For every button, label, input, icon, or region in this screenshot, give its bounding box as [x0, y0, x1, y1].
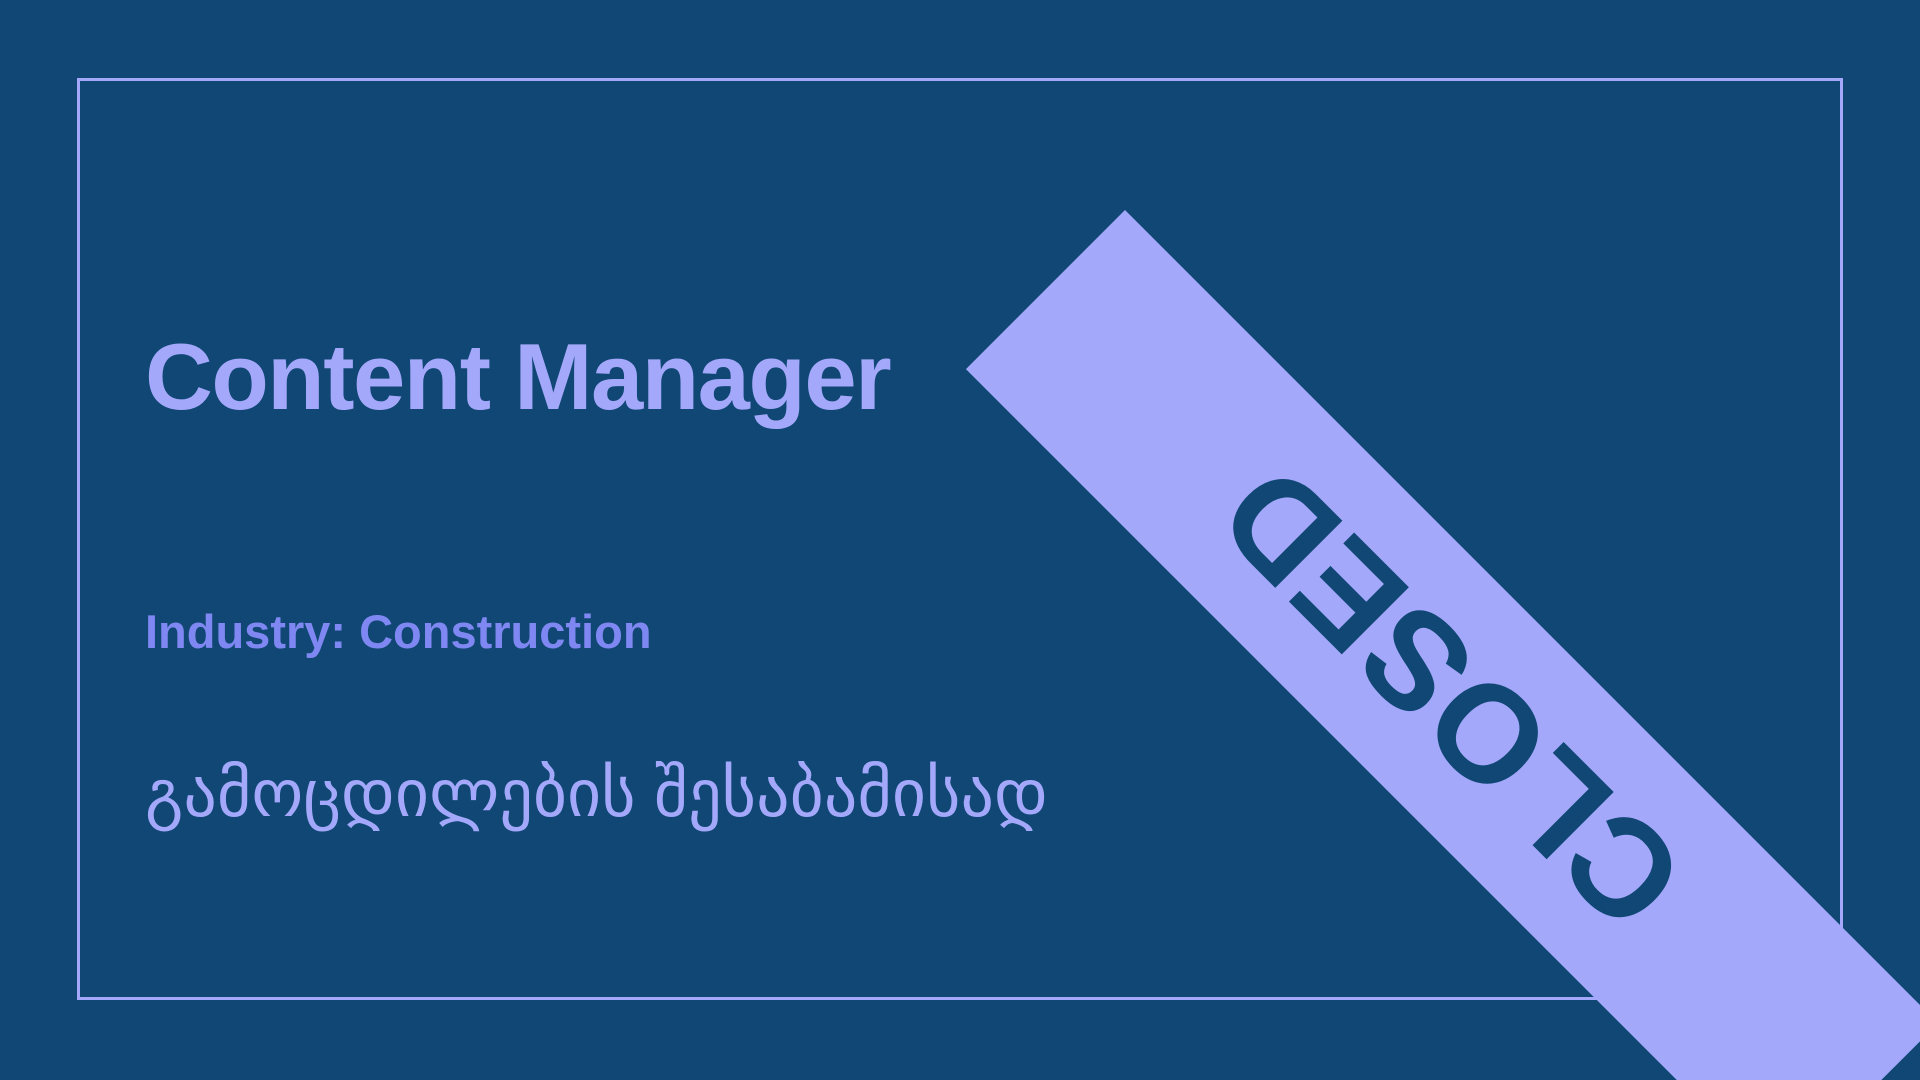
- industry-label: Industry: Construction: [145, 608, 652, 655]
- page-title: Content Manager: [145, 330, 890, 424]
- card-content: Content Manager Industry: Construction გ…: [145, 0, 1645, 1080]
- requirement-label: გამოცდილების შესაბამისად: [145, 752, 1048, 835]
- job-posting-card: Content Manager Industry: Construction გ…: [0, 0, 1920, 1080]
